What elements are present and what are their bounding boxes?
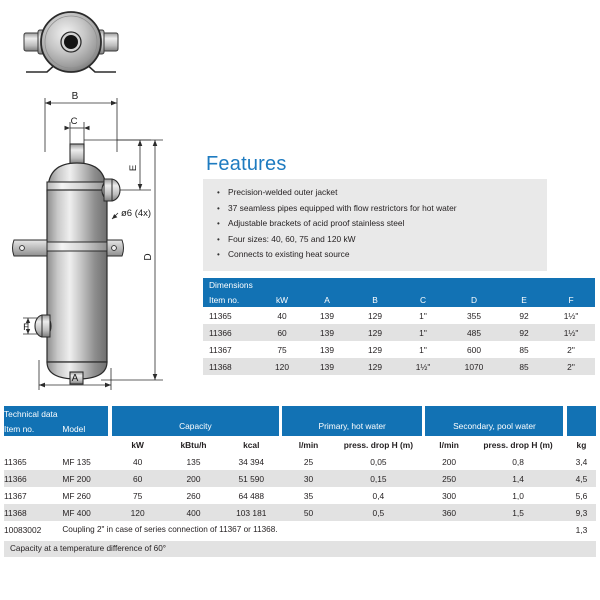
cell: 25 xyxy=(282,453,334,470)
table-row: 11365 MF 135 40 135 34 394 25 0,05 200 0… xyxy=(4,453,596,470)
tech-title: Technical data xyxy=(4,406,108,421)
table-row: 11368 120 139 129 1½" 1070 85 2" xyxy=(203,358,595,375)
cell: 1" xyxy=(399,324,447,341)
tech-subheader-model: Model xyxy=(62,421,108,436)
feature-text: Connects to existing heat source xyxy=(228,247,541,263)
unit-kcal: kcal xyxy=(224,436,279,453)
cell: MF 200 xyxy=(62,470,108,487)
cell: 11368 xyxy=(4,504,62,521)
technical-data-panel: Technical data Capacity Primary, hot wat… xyxy=(4,406,596,538)
unit-kbtu: kBtu/h xyxy=(163,436,223,453)
cell: 5,6 xyxy=(567,487,596,504)
bullet-icon: • xyxy=(217,216,228,232)
capacity-note: Capacity at a temperature difference of … xyxy=(4,541,596,557)
cell: 120 xyxy=(261,358,303,375)
cell: 40 xyxy=(261,307,303,324)
cell: 85 xyxy=(501,341,547,358)
features-list: • Precision-welded outer jacket • 37 sea… xyxy=(203,179,547,271)
unit-primary-drop: press. drop H (m) xyxy=(335,436,422,453)
feature-item: • Connects to existing heat source xyxy=(203,247,547,263)
dimension-label-d: D xyxy=(143,253,154,260)
cell: 50 xyxy=(282,504,334,521)
cell: 200 xyxy=(425,453,472,470)
technical-data-table: Technical data Capacity Primary, hot wat… xyxy=(4,406,596,538)
drawing-front-view xyxy=(13,144,124,384)
spacer xyxy=(108,421,111,436)
feature-text: Adjustable brackets of acid proof stainl… xyxy=(228,216,541,232)
cell: 139 xyxy=(303,341,351,358)
group-capacity-label: Capacity xyxy=(112,406,279,436)
tech-subheader-item: Item no. xyxy=(4,421,62,436)
cell: 260 xyxy=(163,487,223,504)
feature-item: • Adjustable brackets of acid proof stai… xyxy=(203,216,547,232)
feature-item: • Precision-welded outer jacket xyxy=(203,185,547,201)
dimension-label-c: C xyxy=(71,116,78,127)
features-title: Features xyxy=(206,152,547,176)
cell: 1,4 xyxy=(473,470,564,487)
cell: 355 xyxy=(447,307,501,324)
drawing-top-view xyxy=(24,12,118,72)
cell: 1½" xyxy=(547,324,595,341)
cell: 2" xyxy=(547,358,595,375)
cell: 485 xyxy=(447,324,501,341)
cell: 0,8 xyxy=(473,453,564,470)
group-primary-cell: Primary, hot water xyxy=(282,406,422,436)
group-primary-label: Primary, hot water xyxy=(282,406,422,436)
cell: MF 260 xyxy=(62,487,108,504)
dim-col-header-f: F xyxy=(547,292,595,307)
table-row: 11367 MF 260 75 260 64 488 35 0,4 300 1,… xyxy=(4,487,596,504)
cell: 250 xyxy=(425,470,472,487)
unit-kg: kg xyxy=(567,436,596,453)
coupling-item-no: 10083002 xyxy=(4,521,62,538)
mounting-bracket-left xyxy=(13,240,48,256)
cell: 11367 xyxy=(203,341,261,358)
dimensions-table-header-row: Item no. kW A B C D E F xyxy=(203,292,595,307)
cell: 1" xyxy=(399,341,447,358)
cell: 92 xyxy=(501,324,547,341)
features-panel: Features • Precision-welded outer jacket… xyxy=(203,152,547,271)
cell: 60 xyxy=(112,470,164,487)
dimensions-table-title-row: Dimensions xyxy=(203,278,595,292)
cell: 120 xyxy=(112,504,164,521)
cell: 135 xyxy=(163,453,223,470)
drawing-svg: B C E D A F ø6 (4x) xyxy=(0,0,200,400)
cell: 129 xyxy=(351,324,399,341)
cell: 139 xyxy=(303,307,351,324)
dimension-label-hole: ø6 (4x) xyxy=(121,208,151,219)
feature-item: • Four sizes: 40, 60, 75 and 120 kW xyxy=(203,232,547,248)
cell: 40 xyxy=(112,453,164,470)
group-secondary-label: Secondary, pool water xyxy=(425,406,563,436)
cell: 75 xyxy=(261,341,303,358)
dim-col-header-b: B xyxy=(351,292,399,307)
cell: 139 xyxy=(303,358,351,375)
dimension-label-e: E xyxy=(128,165,139,171)
dimension-label-b: B xyxy=(72,91,79,102)
cell: 11368 xyxy=(203,358,261,375)
dim-col-header-d: D xyxy=(447,292,501,307)
cell: 129 xyxy=(351,358,399,375)
table-row: 11366 60 139 129 1" 485 92 1½" xyxy=(203,324,595,341)
feature-text: Four sizes: 40, 60, 75 and 120 kW xyxy=(228,232,541,248)
dim-col-header-a: A xyxy=(303,292,351,307)
cell: 2" xyxy=(547,341,595,358)
group-secondary-cell: Secondary, pool water xyxy=(425,406,563,436)
dimension-label-f: F xyxy=(23,322,29,333)
spacer xyxy=(279,421,282,436)
bullet-icon: • xyxy=(217,232,228,248)
unit-kw: kW xyxy=(112,436,164,453)
cell: 129 xyxy=(351,341,399,358)
cell: 0,5 xyxy=(335,504,422,521)
cell: 139 xyxy=(303,324,351,341)
feature-text: Precision-welded outer jacket xyxy=(228,185,541,201)
cell: 34 394 xyxy=(224,453,279,470)
cell: 400 xyxy=(163,504,223,521)
coupling-kg: 1,3 xyxy=(567,521,596,538)
unit-blank-1 xyxy=(4,436,62,453)
dim-col-header-e: E xyxy=(501,292,547,307)
cell: 129 xyxy=(351,307,399,324)
table-row: 11366 MF 200 60 200 51 590 30 0,15 250 1… xyxy=(4,470,596,487)
bullet-icon: • xyxy=(217,185,228,201)
cell: 200 xyxy=(163,470,223,487)
cell: 64 488 xyxy=(224,487,279,504)
cell: 11365 xyxy=(203,307,261,324)
table-row: 11365 40 139 129 1" 355 92 1½" xyxy=(203,307,595,324)
cell: 1½" xyxy=(547,307,595,324)
cell: 103 181 xyxy=(224,504,279,521)
coupling-text: Coupling 2" in case of series connection… xyxy=(62,521,566,538)
dim-col-header-kw: kW xyxy=(261,292,303,307)
cell: 1½" xyxy=(399,358,447,375)
cell: 11365 xyxy=(4,453,62,470)
dimension-label-a: A xyxy=(72,373,79,384)
dim-col-header-item: Item no. xyxy=(203,292,261,307)
dim-col-header-c: C xyxy=(399,292,447,307)
cell: 60 xyxy=(261,324,303,341)
cell: 30 xyxy=(282,470,334,487)
cell: 85 xyxy=(501,358,547,375)
cell: 0,4 xyxy=(335,487,422,504)
cell: 3,4 xyxy=(567,453,596,470)
cell: 92 xyxy=(501,307,547,324)
spacer xyxy=(563,421,566,436)
cell: 51 590 xyxy=(224,470,279,487)
cell: MF 400 xyxy=(62,504,108,521)
cell: 75 xyxy=(112,487,164,504)
unit-blank-2 xyxy=(62,436,108,453)
cell: 1" xyxy=(399,307,447,324)
cell: 1070 xyxy=(447,358,501,375)
unit-secondary-lmin: l/min xyxy=(425,436,472,453)
coupling-row: 10083002 Coupling 2" in case of series c… xyxy=(4,521,596,538)
product-technical-drawing: B C E D A F ø6 (4x) xyxy=(0,0,200,400)
cell: 11366 xyxy=(203,324,261,341)
cell: 9,3 xyxy=(567,504,596,521)
spacer xyxy=(422,421,425,436)
unit-secondary-drop: press. drop H (m) xyxy=(473,436,564,453)
cell: 1,0 xyxy=(473,487,564,504)
cell: 0,15 xyxy=(335,470,422,487)
cell: 1,5 xyxy=(473,504,564,521)
cell: 11367 xyxy=(4,487,62,504)
unit-primary-lmin: l/min xyxy=(282,436,334,453)
cell: 4,5 xyxy=(567,470,596,487)
tech-units-row: kW kBtu/h kcal l/min press. drop H (m) l… xyxy=(4,436,596,453)
tech-header-title-row: Technical data Capacity Primary, hot wat… xyxy=(4,406,596,421)
feature-text: 37 seamless pipes equipped with flow res… xyxy=(228,201,541,217)
cell: MF 135 xyxy=(62,453,108,470)
cell: 600 xyxy=(447,341,501,358)
cell: 0,05 xyxy=(335,453,422,470)
bullet-icon: • xyxy=(217,201,228,217)
cell: 300 xyxy=(425,487,472,504)
cell: 360 xyxy=(425,504,472,521)
dimensions-title: Dimensions xyxy=(203,278,595,292)
table-row: 11367 75 139 129 1" 600 85 2" xyxy=(203,341,595,358)
bullet-icon: • xyxy=(217,247,228,263)
mounting-bracket-right xyxy=(107,240,124,256)
group-capacity-cell: Capacity xyxy=(112,406,279,436)
group-weight-cell xyxy=(567,406,596,436)
feature-item: • 37 seamless pipes equipped with flow r… xyxy=(203,201,547,217)
table-row: 11368 MF 400 120 400 103 181 50 0,5 360 … xyxy=(4,504,596,521)
cell: 11366 xyxy=(4,470,62,487)
dimensions-table: Dimensions Item no. kW A B C D E F 11365… xyxy=(203,278,595,375)
cell: 35 xyxy=(282,487,334,504)
